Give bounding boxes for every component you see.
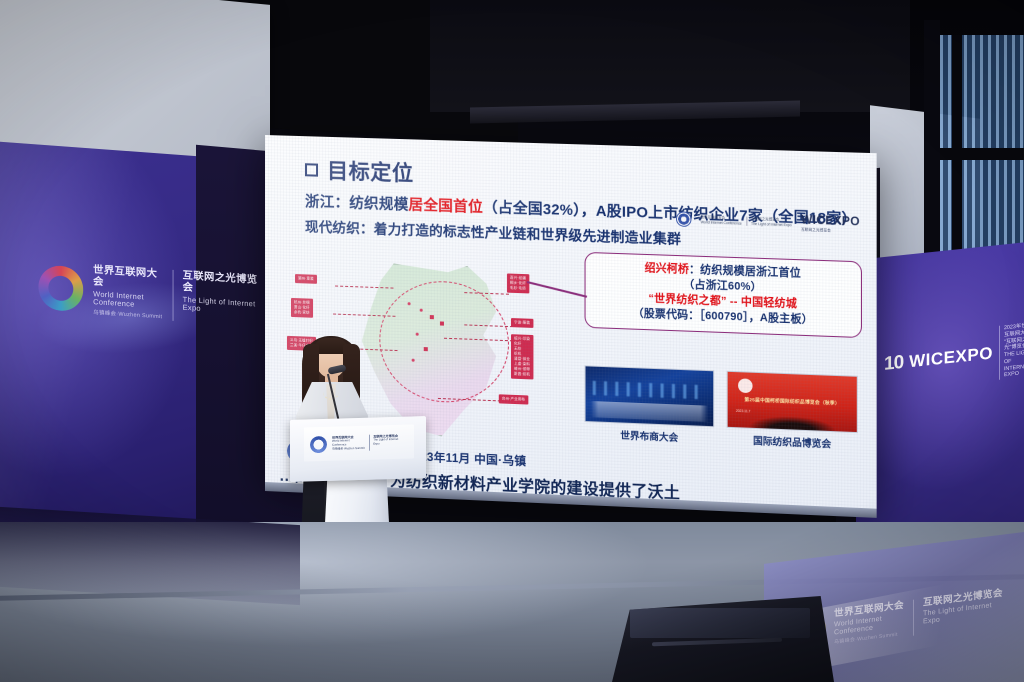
slide-line-1-a: 浙江：纺织规模 <box>305 194 408 213</box>
map-marker <box>440 321 444 325</box>
photo-item-textile-expo: 第25届中国柯桥国际纺织品博览会（秋季） 2023.11.7 国际纺织品博览会 <box>727 371 858 452</box>
podium-conf-sub: 乌镇峰会·Wuzhen Summit <box>332 447 365 452</box>
map-tag-shaoxing: 绍兴·印染 化纤 无纺 织机 诸暨·袜业 上虞·染料 嵊州·领带 新昌·纺机 <box>511 334 533 379</box>
slide-logo-captions: 世界互联网大会 World Internet Conference 互联网之光博… <box>701 215 792 227</box>
slide-logo-divider <box>746 217 747 226</box>
wic-circle-logo-icon <box>676 211 691 227</box>
podium-brand-divider <box>369 435 370 450</box>
page-title: 目标定位 <box>327 155 414 188</box>
wic-expo-en: The Light of Internet Expo <box>183 295 264 317</box>
podium-branding-plate: 世界互联网大会 World Internet Conference 乌镇峰会·W… <box>304 424 414 461</box>
map-tag-hangzhou: 杭州·丝绸 萧山·化纤 余杭·家纺 <box>291 298 313 318</box>
map-tag-huzhou: 湖州·童装 <box>295 274 317 284</box>
teleprompter-monitor <box>612 596 834 682</box>
photo-caption-2: 国际纺织品博览会 <box>727 432 858 452</box>
slide-logo-conf-en: World Internet Conference <box>701 220 742 226</box>
podium-expo-en: The Light of Internet Expo <box>373 438 398 446</box>
podium-top: 世界互联网大会 World Internet Conference 乌镇峰会·W… <box>290 416 426 482</box>
map-marker <box>430 315 434 319</box>
wic-expo-block-left: 互联网之光博览会 The Light of Internet Expo <box>183 271 264 318</box>
map-marker <box>424 347 428 351</box>
teleprompter-vent <box>652 638 782 647</box>
shaoxing-keqiao-callout: 绍兴柯桥：纺织规模居浙江首位 （占浙江60%） “世界纺织之都” -- 中国轻纺… <box>585 252 862 338</box>
photo-banner-text: 第25届中国柯桥国际纺织品博览会（秋季） <box>732 396 853 407</box>
callout-line-1-rest: ：纺织规模居浙江首位 <box>689 264 801 280</box>
wic-expo-cn: 互联网之光博览会 <box>183 271 264 299</box>
window-mullion-horizontal-1 <box>940 148 1024 160</box>
wic-rainbow-ring-icon <box>38 264 83 312</box>
photo-item-world-fabric: 世界布商大会 <box>585 365 715 445</box>
wicexpo-side-l3: THE LIGHT OF INTERNET EXPO <box>1004 349 1024 379</box>
slide-logo-expo-en: The Light of Internet Expo <box>751 221 792 227</box>
wicexpo-side-l1: 2023年世界互联网大会 <box>1004 322 1024 339</box>
wicexpo-side-text-right: 2023年世界互联网大会 “互联网之光”博览会 THE LIGHT OF INT… <box>999 322 1024 380</box>
callout-line-3-a: “世界纺织之都” <box>648 293 726 308</box>
map-tag-jiaxing: 嘉兴·经编 桐乡·化纤 毛衫·毛纺 <box>507 273 529 293</box>
wall-branding-left-text: 世界互联网大会 World Internet Conference 乌镇峰会·W… <box>93 265 264 326</box>
wic-conference-en: World Internet Conference <box>93 290 164 311</box>
wicexpo-wordmark-right: WICEXPO <box>909 343 993 372</box>
ceiling-beam <box>430 0 910 112</box>
wic-conference-cn: 世界互联网大会 <box>93 265 164 292</box>
map-tag-taizhou: 台州·产业用布 <box>499 394 528 404</box>
brand-divider <box>173 270 174 321</box>
slide-logo-expo: 互联网之光博览会 The Light of Internet Expo <box>751 217 792 227</box>
floor-brand-divider <box>913 599 914 636</box>
slide-line-1-highlight: 居全国首位 <box>409 198 483 217</box>
photo-banner-wave <box>728 408 857 432</box>
slide-logo-conf: 世界互联网大会 World Internet Conference <box>701 215 742 225</box>
conference-stage-photo: 世界互联网大会 World Internet Conference 乌镇峰会·W… <box>0 0 1024 682</box>
photo-world-fabric-merchandising <box>585 365 715 427</box>
teleprompter-glass <box>630 608 810 638</box>
podium-brand-text: 世界互联网大会 World Internet Conference 乌镇峰会·W… <box>332 434 398 451</box>
slide-photo-row: 世界布商大会 第25届中国柯桥国际纺织品博览会（秋季） 2023.11.7 国际… <box>585 365 860 451</box>
square-bullet-icon <box>305 163 318 176</box>
podium-conf-block: 世界互联网大会 World Internet Conference 乌镇峰会·W… <box>332 435 365 451</box>
photo-caption-1: 世界布商大会 <box>585 426 715 446</box>
floor-conf-block: 世界互联网大会 World Internet Conference 乌镇峰会·W… <box>834 600 904 646</box>
photo-keqiao-textile-expo: 第25届中国柯桥国际纺织品博览会（秋季） 2023.11.7 <box>727 371 858 433</box>
wicexpo-10-mark: 10 <box>884 352 903 376</box>
callout-line-3-b: -- 中国轻纺城 <box>730 296 797 311</box>
slide-wicexpo-wordmark: WICEXPO 互联网之光博览会 <box>801 214 860 233</box>
podium-expo-block: 互联网之光博览会 The Light of Internet Expo <box>373 434 398 450</box>
wic-ring-icon-podium <box>310 435 327 452</box>
callout-keqiao-name: 绍兴柯桥 <box>645 262 690 276</box>
map-tag-ningbo: 宁波·服装 <box>511 318 533 328</box>
wic-conference-block-left: 世界互联网大会 World Internet Conference 乌镇峰会·W… <box>93 265 164 320</box>
